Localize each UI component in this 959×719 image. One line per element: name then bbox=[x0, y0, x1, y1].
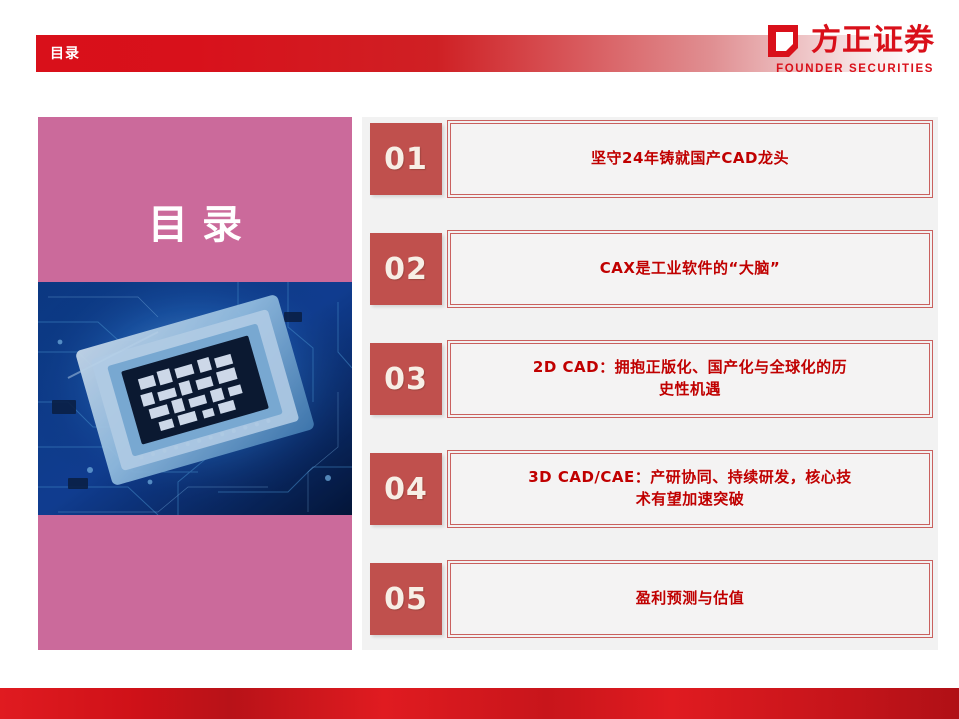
toc-label-box[interactable]: 2D CAD：拥抱正版化、国产化与全球化的历 史性机遇 bbox=[450, 343, 930, 415]
toc-panel: 01 坚守24年铸就国产CAD龙头 02 CAX是工业软件的“大脑” 03 2D… bbox=[362, 117, 938, 650]
toc-number: 05 bbox=[384, 582, 428, 617]
toc-label: 坚守24年铸就国产CAD龙头 bbox=[591, 148, 789, 170]
toc-number: 01 bbox=[384, 142, 428, 177]
toc-number: 02 bbox=[384, 252, 428, 287]
toc-label: 2D CAD：拥抱正版化、国产化与全球化的历 史性机遇 bbox=[533, 357, 847, 401]
toc-number: 04 bbox=[384, 472, 428, 507]
toc-number-badge: 02 bbox=[370, 233, 442, 305]
left-panel-title: 目录 bbox=[38, 192, 352, 250]
logo-chinese-name: 方正证券 bbox=[811, 26, 935, 56]
toc-label: CAX是工业软件的“大脑” bbox=[600, 258, 780, 280]
circuit-board-chip-image bbox=[38, 282, 352, 515]
toc-item-03[interactable]: 03 2D CAD：拥抱正版化、国产化与全球化的历 史性机遇 bbox=[370, 343, 930, 415]
toc-label-box[interactable]: 坚守24年铸就国产CAD龙头 bbox=[450, 123, 930, 195]
toc-item-01[interactable]: 01 坚守24年铸就国产CAD龙头 bbox=[370, 123, 930, 195]
toc-item-02[interactable]: 02 CAX是工业软件的“大脑” bbox=[370, 233, 930, 305]
toc-item-04[interactable]: 04 3D CAD/CAE：产研协同、持续研发，核心技 术有望加速突破 bbox=[370, 453, 930, 525]
slide-root: 目录 方正证券 FOUNDER SECURITIES 目录 bbox=[0, 0, 959, 719]
toc-label-box[interactable]: CAX是工业软件的“大脑” bbox=[450, 233, 930, 305]
toc-label-box[interactable]: 3D CAD/CAE：产研协同、持续研发，核心技 术有望加速突破 bbox=[450, 453, 930, 525]
toc-item-05[interactable]: 05 盈利预测与估值 bbox=[370, 563, 930, 635]
toc-label: 盈利预测与估值 bbox=[636, 588, 745, 610]
toc-label-box[interactable]: 盈利预测与估值 bbox=[450, 563, 930, 635]
left-title-panel: 目录 bbox=[38, 117, 352, 650]
company-logo: 方正证券 FOUNDER SECURITIES bbox=[765, 22, 935, 75]
toc-number-badge: 04 bbox=[370, 453, 442, 525]
page-title: 目录 bbox=[50, 43, 80, 63]
toc-label: 3D CAD/CAE：产研协同、持续研发，核心技 术有望加速突破 bbox=[528, 467, 852, 511]
logo-english-name: FOUNDER SECURITIES bbox=[776, 63, 934, 75]
footer-bar bbox=[0, 688, 959, 719]
toc-number-badge: 01 bbox=[370, 123, 442, 195]
toc-number-badge: 03 bbox=[370, 343, 442, 415]
toc-number: 03 bbox=[384, 362, 428, 397]
founder-diamond-mark-icon bbox=[765, 22, 803, 60]
toc-number-badge: 05 bbox=[370, 563, 442, 635]
